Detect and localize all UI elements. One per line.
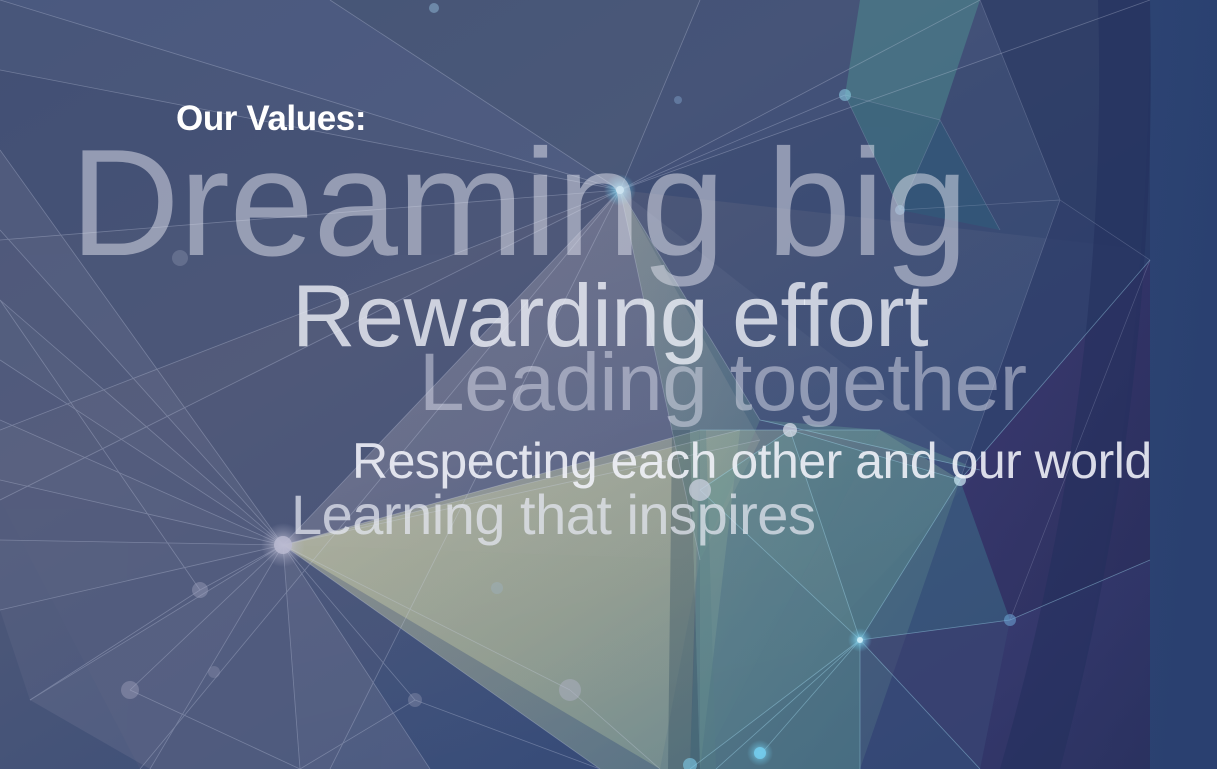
low-poly-background [0, 0, 1217, 769]
values-slide: Our Values: Dreaming big Rewarding effor… [0, 0, 1217, 769]
